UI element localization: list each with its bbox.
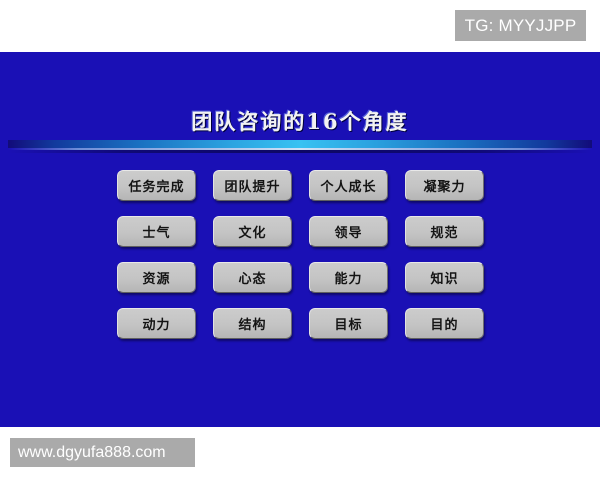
grid-button-morale[interactable]: 士气 xyxy=(117,216,196,247)
title-divider-bar xyxy=(8,140,592,148)
grid-button-team-improvement[interactable]: 团队提升 xyxy=(213,170,292,201)
bottom-watermark-url: www.dgyufa888.com xyxy=(10,438,195,467)
top-watermark-badge: TG: MYYJJPP xyxy=(455,10,586,41)
grid-button-purpose[interactable]: 目的 xyxy=(405,308,484,339)
grid-button-task-completion[interactable]: 任务完成 xyxy=(117,170,196,201)
grid-button-structure[interactable]: 结构 xyxy=(213,308,292,339)
grid-button-norms[interactable]: 规范 xyxy=(405,216,484,247)
grid-button-personal-growth[interactable]: 个人成长 xyxy=(309,170,388,201)
grid-button-mindset[interactable]: 心态 xyxy=(213,262,292,293)
grid-button-motivation[interactable]: 动力 xyxy=(117,308,196,339)
grid-button-leadership[interactable]: 领导 xyxy=(309,216,388,247)
perspective-button-grid: 任务完成 团队提升 个人成长 凝聚力 士气 文化 领导 规范 资源 心态 能力 … xyxy=(117,170,483,339)
grid-button-goal[interactable]: 目标 xyxy=(309,308,388,339)
grid-button-resources[interactable]: 资源 xyxy=(117,262,196,293)
grid-button-capability[interactable]: 能力 xyxy=(309,262,388,293)
grid-button-knowledge[interactable]: 知识 xyxy=(405,262,484,293)
presentation-slide: 团队咨询的16个角度 任务完成 团队提升 个人成长 凝聚力 士气 文化 领导 规… xyxy=(0,52,600,427)
grid-button-cohesion[interactable]: 凝聚力 xyxy=(405,170,484,201)
grid-button-culture[interactable]: 文化 xyxy=(213,216,292,247)
title-divider-shadow xyxy=(8,150,592,153)
slide-title: 团队咨询的16个角度 xyxy=(0,106,600,136)
